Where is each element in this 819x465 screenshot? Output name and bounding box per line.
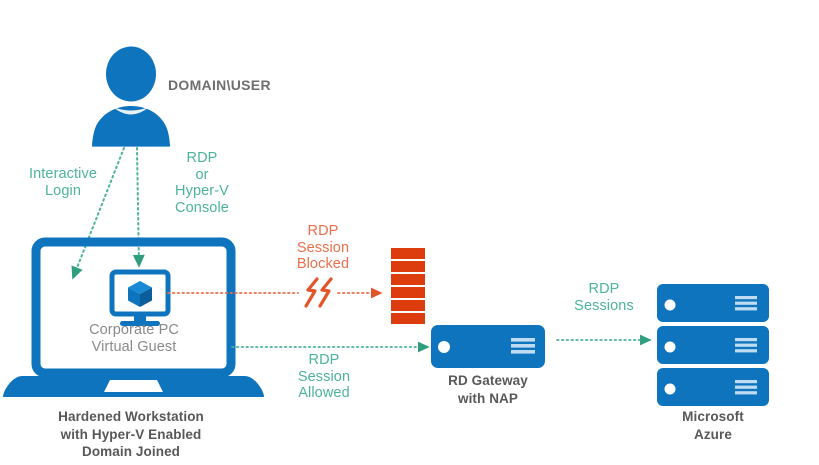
diagram-canvas: DOMAIN\USER Interactive Login RDP or Hyp… xyxy=(0,0,819,465)
firewall-brick-icon xyxy=(391,248,425,324)
connector-label-rdp-sessions: RDP Sessions xyxy=(562,281,646,314)
connector-label-rdp-session-blocked: RDP Session Blocked xyxy=(285,223,361,273)
person-icon xyxy=(92,47,170,147)
server-stack-icon xyxy=(657,284,769,406)
connector-label-rdp-hyperv-console: RDP or Hyper-V Console xyxy=(152,150,252,216)
connector-label-interactive-login: Interactive Login xyxy=(8,166,118,199)
server-icon xyxy=(431,325,545,368)
connector-rdp-session-blocked xyxy=(168,279,381,306)
connector-rdp-hyperv-console xyxy=(137,148,139,266)
laptop-icon xyxy=(3,242,264,397)
lightning-break-icon xyxy=(306,279,331,306)
workstation-inner-label: Corporate PC Virtual Guest xyxy=(52,322,216,355)
gateway-caption: RD Gateway with NAP xyxy=(428,372,548,407)
user-label: DOMAIN\USER xyxy=(168,78,298,94)
connector-label-rdp-session-allowed: RDP Session Allowed xyxy=(284,352,364,402)
azure-caption: Microsoft Azure xyxy=(653,408,773,443)
monitor-vm-icon xyxy=(112,272,168,326)
diagram-vector-layer xyxy=(0,0,819,465)
workstation-caption: Hardened Workstation with Hyper-V Enable… xyxy=(20,408,242,461)
